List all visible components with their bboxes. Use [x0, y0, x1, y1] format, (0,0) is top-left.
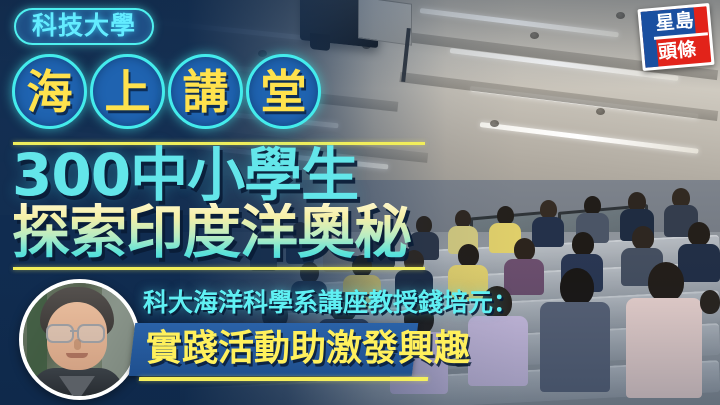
subtitle-underline: [139, 377, 428, 381]
headline-line-2: 探索印度洋奧秘: [12, 203, 411, 261]
avatar-glasses-left: [46, 324, 74, 343]
poster-content: 科技大學 海 上 講 堂 300中小學生 探索印度洋奧秘: [0, 0, 720, 405]
news-poster: 科技大學 海 上 講 堂 300中小學生 探索印度洋奧秘: [0, 0, 720, 405]
series-title-char: 講: [183, 69, 229, 115]
series-title-circles: 海 上 講 堂: [12, 54, 321, 129]
brand-logo: 星島 頭條: [637, 3, 714, 71]
series-title-circle: 講: [168, 54, 243, 129]
brand-logo-frame: 星島 頭條: [637, 3, 714, 71]
series-title-char: 堂: [261, 69, 307, 115]
series-title-char: 上: [105, 69, 151, 115]
avatar-glasses-bridge: [70, 330, 79, 332]
avatar-nose: [74, 339, 81, 350]
subtitle-attribution: 科大海洋科學系講座教授錢培元：: [143, 290, 518, 315]
avatar-mouth: [66, 353, 88, 358]
headline-line-1: 300中小學生: [12, 146, 358, 204]
series-title-circle: 海: [12, 54, 87, 129]
series-title-char: 海: [27, 69, 73, 115]
avatar-glasses-right: [77, 324, 105, 343]
kicker-tag: 科技大學: [14, 8, 154, 45]
avatar: [19, 279, 140, 400]
headline-divider-bottom: [13, 267, 425, 270]
subtitle-quote: 實踐活動助激發興趣: [146, 331, 470, 367]
kicker-tag-label: 科技大學: [32, 13, 136, 38]
series-title-circle: 堂: [246, 54, 321, 129]
series-title-circle: 上: [90, 54, 165, 129]
